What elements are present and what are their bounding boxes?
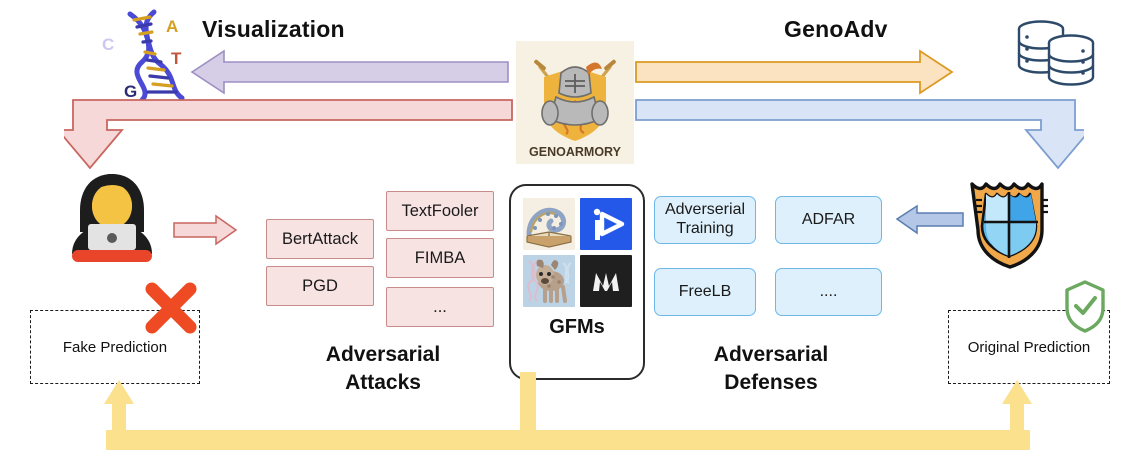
attack-box-label: BertAttack: [282, 230, 358, 249]
original-prediction-label: Original Prediction: [968, 339, 1091, 356]
dna-base-t: T: [171, 49, 182, 68]
nucleotide-transformer-play-logo: [580, 198, 632, 250]
shield-input-arrow-left: [895, 203, 965, 235]
attack-box-label: TextFooler: [401, 202, 478, 221]
attack-box-label: PGD: [302, 277, 338, 296]
defense-box-label: ADFAR: [802, 211, 855, 230]
adversarial-defenses-label-line1: Adversarial: [656, 341, 886, 369]
attack-path-arrow-down-left: [64, 96, 514, 172]
attack-box-more[interactable]: ...: [386, 287, 494, 327]
visualization-title: Visualization: [202, 16, 345, 43]
attack-box-bertattack[interactable]: BertAttack: [266, 219, 374, 259]
dnabert-wave-book-logo: [523, 198, 575, 250]
attack-box-fimba[interactable]: FIMBA: [386, 238, 494, 278]
defense-box-adfar[interactable]: ADFAR: [775, 196, 882, 244]
defense-path-arrow-down-right: [634, 96, 1084, 172]
fake-prediction-label: Fake Prediction: [63, 339, 167, 356]
hacker-output-arrow-right: [172, 213, 238, 247]
defense-box-label: Adverserial Training: [655, 201, 755, 239]
defense-box-label: ....: [820, 283, 838, 302]
gfms-label: GFMs: [549, 316, 605, 339]
feedback-arrow-yellow: [88, 372, 1048, 458]
defense-box-label: FreeLB: [679, 283, 731, 302]
caduceus-m-logo: [580, 255, 632, 307]
attack-box-label: FIMBA: [415, 249, 465, 268]
genoarmory-logo-card: GENOARMORY: [516, 41, 634, 164]
attack-box-label: ...: [433, 298, 447, 317]
genoarmory-wordmark: GENOARMORY: [529, 145, 622, 159]
attack-box-textfooler[interactable]: TextFooler: [386, 191, 494, 231]
hyenadna-hyena-logo: [523, 255, 575, 307]
adversarial-attacks-label-line1: Adversarial: [268, 341, 498, 369]
genoadv-title: GenoAdv: [784, 16, 888, 43]
dna-base-c: C: [102, 35, 114, 54]
genoadv-arrow-right: [634, 48, 956, 96]
hacker-laptop-icon: [58, 170, 166, 266]
defense-box-adversarial-training[interactable]: Adverserial Training: [654, 196, 756, 244]
red-x-mark-icon: [140, 277, 202, 339]
gfms-card: GFMs: [509, 184, 645, 380]
defense-box-more[interactable]: ....: [775, 268, 882, 316]
defense-box-freelb[interactable]: FreeLB: [654, 268, 756, 316]
dna-base-a: A: [166, 17, 178, 36]
gfm-logo-grid: [523, 198, 632, 307]
genoarmory-framework-diagram: Visualization GenoAdv A T C: [0, 0, 1121, 461]
attack-box-pgd[interactable]: PGD: [266, 266, 374, 306]
green-shield-check-icon: [1062, 278, 1108, 334]
database-stack-icon: [1014, 16, 1104, 96]
defense-shield-icon: [968, 170, 1064, 270]
visualization-arrow-left: [190, 48, 510, 96]
